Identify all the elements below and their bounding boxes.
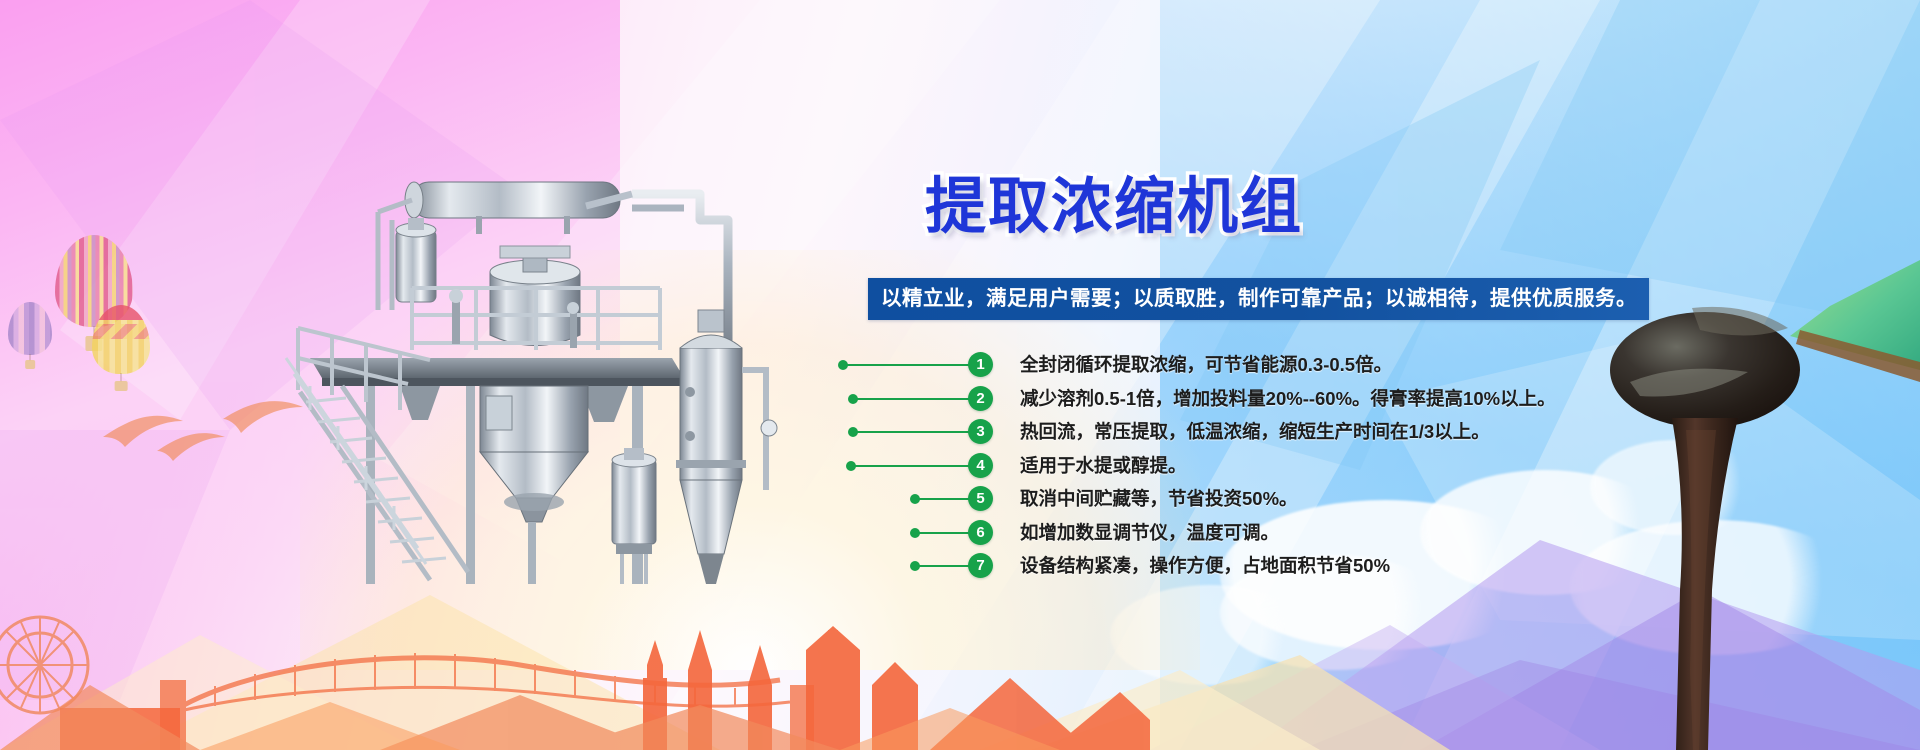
extraction-concentration-unit [280,160,800,590]
slogan-bar: 以精立业，满足用户需要；以质取胜，制作可靠产品；以诚相待，提供优质服务。 [868,278,1649,320]
feature-number-badge: 7 [968,553,993,578]
product-banner: 提取浓缩机组 以精立业，满足用户需要；以质取胜，制作可靠产品；以诚相待，提供优质… [0,0,1920,750]
feature-text: 如增加数显调节仪，温度可调。 [1020,520,1279,545]
feature-leader-line [918,532,970,534]
feature-text: 减少溶剂0.5-1倍，增加投料量20%--60%。得膏率提高10%以上。 [1020,386,1556,411]
feature-row: 2减少溶剂0.5-1倍，增加投料量20%--60%。得膏率提高10%以上。 [838,382,1578,416]
feature-leader-line [846,364,970,366]
feature-text: 取消中间贮藏等，节省投资50%。 [1020,486,1298,511]
feature-leader-line [918,565,970,567]
feature-leader-line [856,398,970,400]
feature-number-badge: 3 [968,419,993,444]
feature-number-badge: 1 [968,352,993,377]
page-title: 提取浓缩机组 [925,176,1303,237]
feature-row: 4适用于水提或醇提。 [838,449,1578,483]
feature-text: 设备结构紧凑，操作方便，占地面积节省50% [1020,553,1390,578]
feature-number-badge: 2 [968,386,993,411]
feature-number-badge: 4 [968,453,993,478]
feature-text: 热回流，常压提取，低温浓缩，缩短生产时间在1/3以上。 [1020,419,1490,444]
feature-row: 3热回流，常压提取，低温浓缩，缩短生产时间在1/3以上。 [838,415,1578,449]
feature-text: 适用于水提或醇提。 [1020,453,1187,478]
feature-text: 全封闭循环提取浓缩，可节省能源0.3-0.5倍。 [1020,352,1392,377]
feature-leader-line [856,431,970,433]
balloon-small [8,302,52,370]
feature-leader-line [854,465,970,467]
feature-number-badge: 5 [968,486,993,511]
feature-row: 1全封闭循环提取浓缩，可节省能源0.3-0.5倍。 [838,348,1578,382]
feature-list: 1全封闭循环提取浓缩，可节省能源0.3-0.5倍。2减少溶剂0.5-1倍，增加投… [838,348,1578,583]
feature-row: 6如增加数显调节仪，温度可调。 [838,516,1578,550]
feature-row: 7设备结构紧凑，操作方便，占地面积节省50% [838,549,1578,583]
feature-row: 5取消中间贮藏等，节省投资50%。 [838,482,1578,516]
feature-leader-line [918,498,970,500]
feature-number-badge: 6 [968,520,993,545]
balloon-medium [92,305,150,393]
